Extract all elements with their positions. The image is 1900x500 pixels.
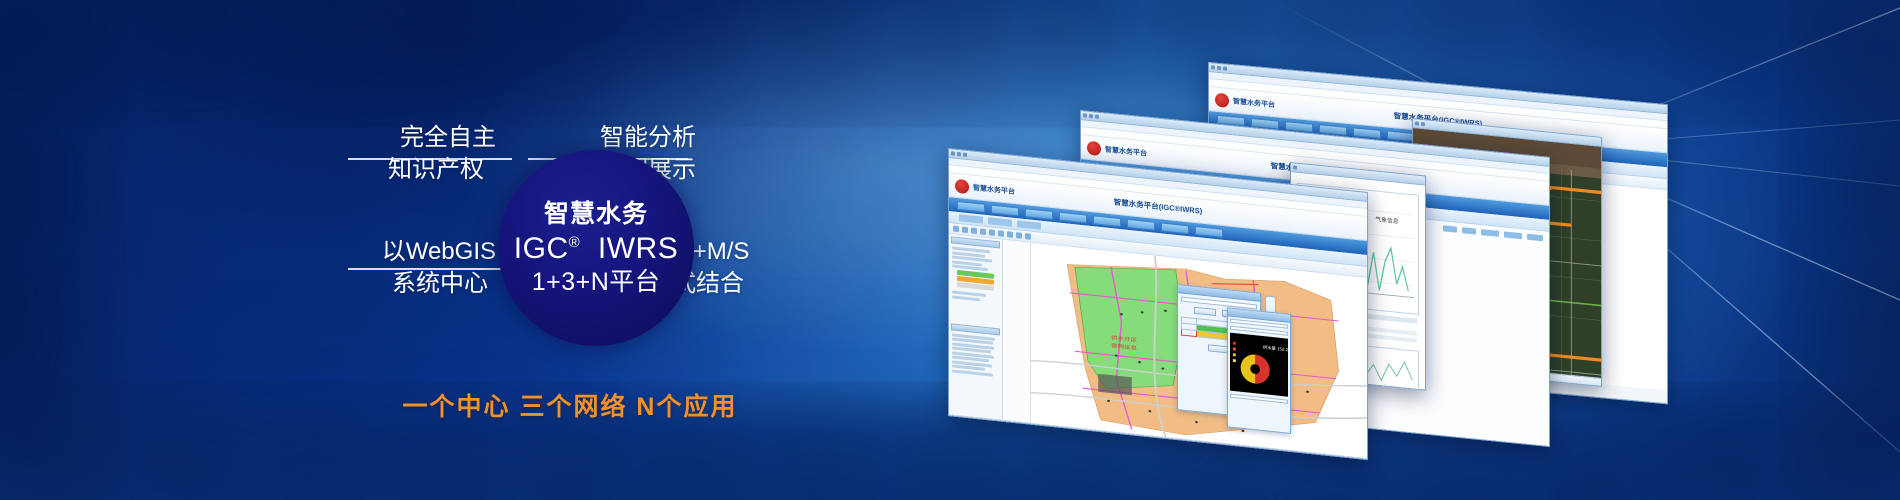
brand-name-middle: 智慧水务平台 [1105, 144, 1147, 158]
feature-top-left-line2: 知识产权 [306, 154, 496, 186]
water-balance-chart: 供水量 152.23 [1230, 333, 1288, 397]
screenshot-stack: 智慧水务平台 智慧水务平台(IGC®IWRS) [960, 0, 1900, 500]
layer-tree-panel[interactable] [949, 234, 1003, 420]
infographic: 完全自主 知识产权 以WebGIS 系统中心 智能分析 数据展示 C/S+B/S… [0, 0, 980, 500]
gis-map-canvas[interactable]: 供水分区 管网信息 [1031, 243, 1367, 458]
feature-bottom-left-line1: 以WebGIS [382, 238, 496, 265]
hub-circle: 智慧水务 IGC® IWRS 1+3+N平台 [498, 150, 694, 346]
feature-top-left: 完全自主 知识产权 [306, 122, 496, 185]
app-title-front: 智慧水务平台(IGC®IWRS) [1114, 196, 1202, 216]
brand-logo-icon [1087, 140, 1101, 155]
hub-title: 智慧水务 [544, 200, 648, 228]
dialog-ok-button[interactable] [1194, 307, 1216, 316]
feature-bottom-left: 以WebGIS 系统中心 [296, 236, 496, 299]
hub-product: IGC® IWRS [514, 232, 678, 266]
brand-name-back: 智慧水务平台 [1233, 96, 1275, 110]
hub-product-igc: IGC [514, 232, 569, 265]
brand-name-front: 智慧水务平台 [973, 182, 1015, 196]
brand-logo-icon [955, 178, 969, 193]
window-front-gis[interactable]: 智慧水务平台 智慧水务平台(IGC®IWRS) [948, 148, 1368, 460]
hub-subtitle: 1+3+N平台 [532, 268, 661, 296]
water-balance-panel[interactable]: 供水量 152.23 [1227, 307, 1291, 434]
brand-logo-icon [1215, 92, 1229, 107]
banner-stage: 完全自主 知识产权 以WebGIS 系统中心 智能分析 数据展示 C/S+B/S… [0, 0, 1900, 500]
tagline: 一个中心 三个网络 N个应用 [300, 387, 840, 423]
feature-top-right-line1: 智能分析 [600, 124, 696, 151]
registered-mark-icon: ® [569, 234, 581, 251]
tool-palette[interactable] [1003, 240, 1031, 423]
feature-bottom-left-line2: 系统中心 [296, 268, 496, 300]
feature-top-left-line1: 完全自主 [400, 124, 496, 151]
attribute-list [951, 332, 1000, 378]
hub-product-iwrs: IWRS [598, 232, 678, 265]
